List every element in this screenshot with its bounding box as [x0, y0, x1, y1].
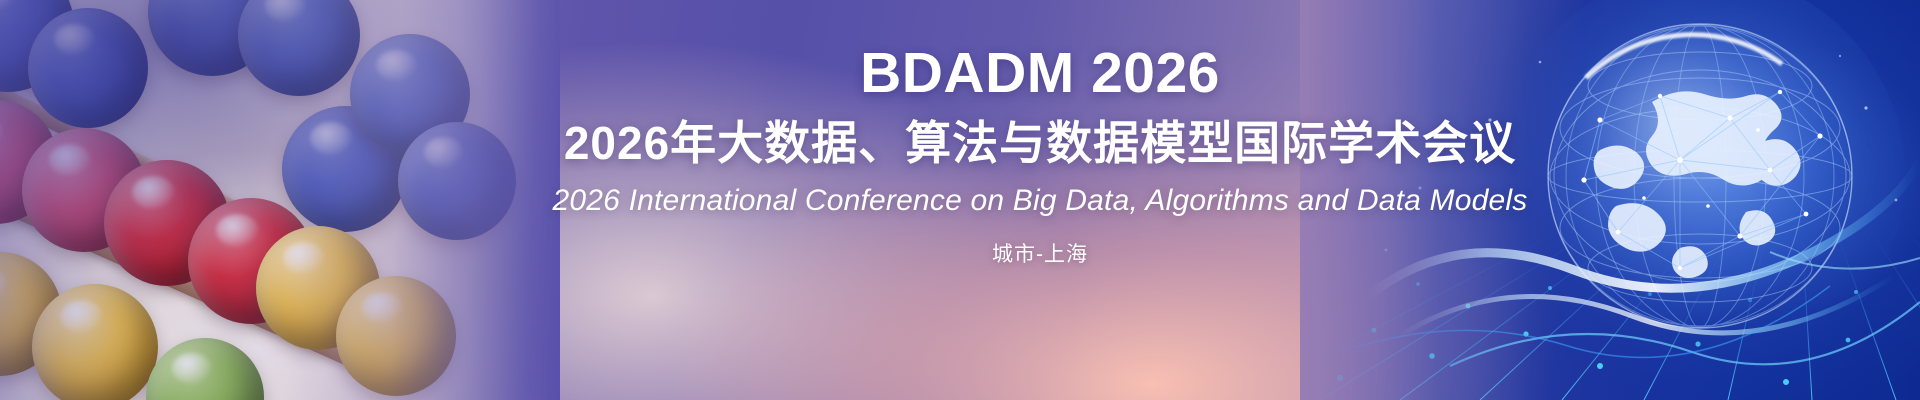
abacus-shadow-veil	[0, 0, 560, 400]
abacus-photo	[0, 0, 560, 400]
conference-title-chinese: 2026年大数据、算法与数据模型国际学术会议	[564, 118, 1516, 170]
conference-city-label: 城市-上海	[992, 238, 1088, 268]
conference-banner: BDADM 2026 2026年大数据、算法与数据模型国际学术会议 2026 I…	[0, 0, 1920, 400]
conference-title-english: 2026 International Conference on Big Dat…	[553, 184, 1528, 219]
conference-acronym-title: BDADM 2026	[860, 44, 1220, 102]
